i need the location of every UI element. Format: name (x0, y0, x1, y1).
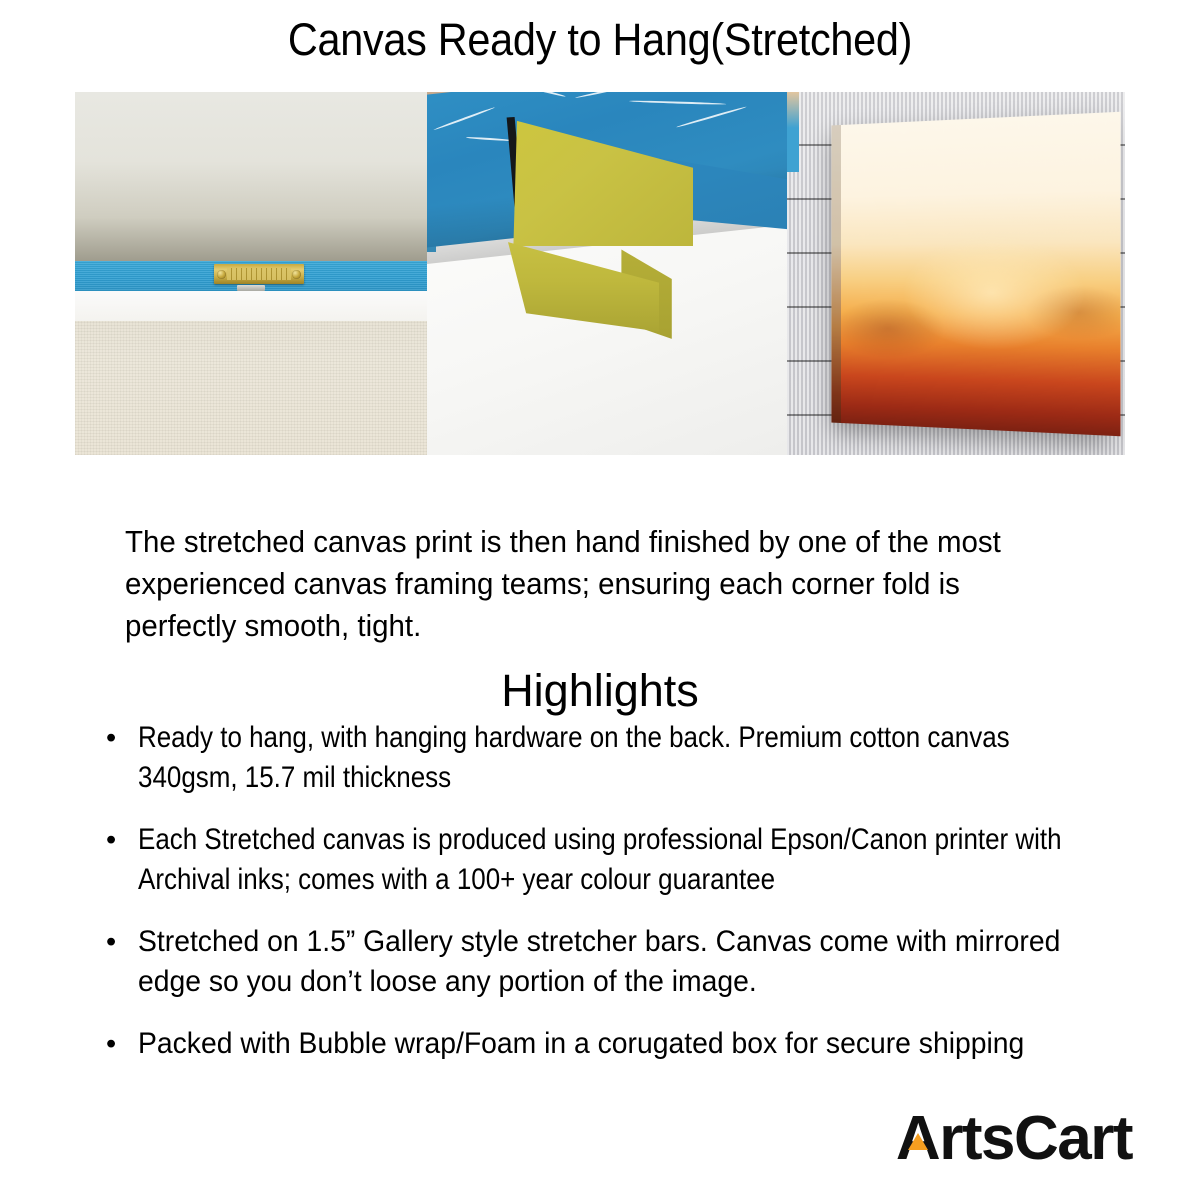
bullet-marker-icon: • (106, 718, 116, 758)
list-item: • Each Stretched canvas is produced usin… (100, 820, 1120, 900)
wall-backdrop (75, 92, 427, 266)
orange-triangle-icon (908, 1133, 928, 1150)
sunset-landscape-print (841, 111, 1121, 435)
list-item-text: Each Stretched canvas is produced using … (138, 820, 1114, 900)
canvas-back-fabric (75, 317, 427, 455)
product-photo-corner-fold (427, 92, 787, 455)
list-item-text: Ready to hang, with hanging hardware on … (138, 718, 1114, 798)
list-item: • Ready to hang, with hanging hardware o… (100, 718, 1120, 798)
print-squiggle (576, 92, 655, 99)
print-squiggle (677, 106, 747, 128)
product-photo-hanging-canvas (787, 92, 1125, 455)
sawtooth-hanger-icon (214, 264, 304, 284)
highlights-list: • Ready to hang, with hanging hardware o… (100, 718, 1120, 1086)
adjacent-photo-sliver (787, 92, 799, 172)
hanger-screw-right (292, 270, 301, 279)
brand-logo: A rtsCart (896, 1108, 1132, 1170)
bullet-marker-icon: • (106, 820, 116, 860)
print-squiggle (527, 92, 567, 98)
hanger-screw-left (217, 270, 226, 279)
page-title: Canvas Ready to Hang(Stretched) (48, 12, 1152, 68)
highlights-heading: Highlights (0, 665, 1200, 717)
product-photo-canvas-back (75, 92, 427, 455)
list-item: • Stretched on 1.5” Gallery style stretc… (100, 922, 1120, 1002)
product-image-strip (75, 92, 1125, 455)
bullet-marker-icon: • (106, 1024, 116, 1064)
canvas-white-band (75, 290, 427, 321)
list-item-text: Packed with Bubble wrap/Foam in a coruga… (138, 1024, 1118, 1064)
print-squiggle (629, 100, 726, 105)
logo-wordmark: rtsCart (939, 1108, 1132, 1170)
list-item-text: Stretched on 1.5” Gallery style stretche… (138, 922, 1118, 1002)
logo-letter-a: A (896, 1108, 939, 1170)
list-item: • Packed with Bubble wrap/Foam in a coru… (100, 1024, 1120, 1064)
hanger-teeth (227, 268, 292, 280)
hanger-clip (237, 285, 265, 291)
print-squiggle (434, 108, 495, 132)
hanging-canvas-print (841, 111, 1121, 435)
intro-paragraph: The stretched canvas print is then hand … (125, 521, 1028, 647)
bullet-marker-icon: • (106, 922, 116, 962)
